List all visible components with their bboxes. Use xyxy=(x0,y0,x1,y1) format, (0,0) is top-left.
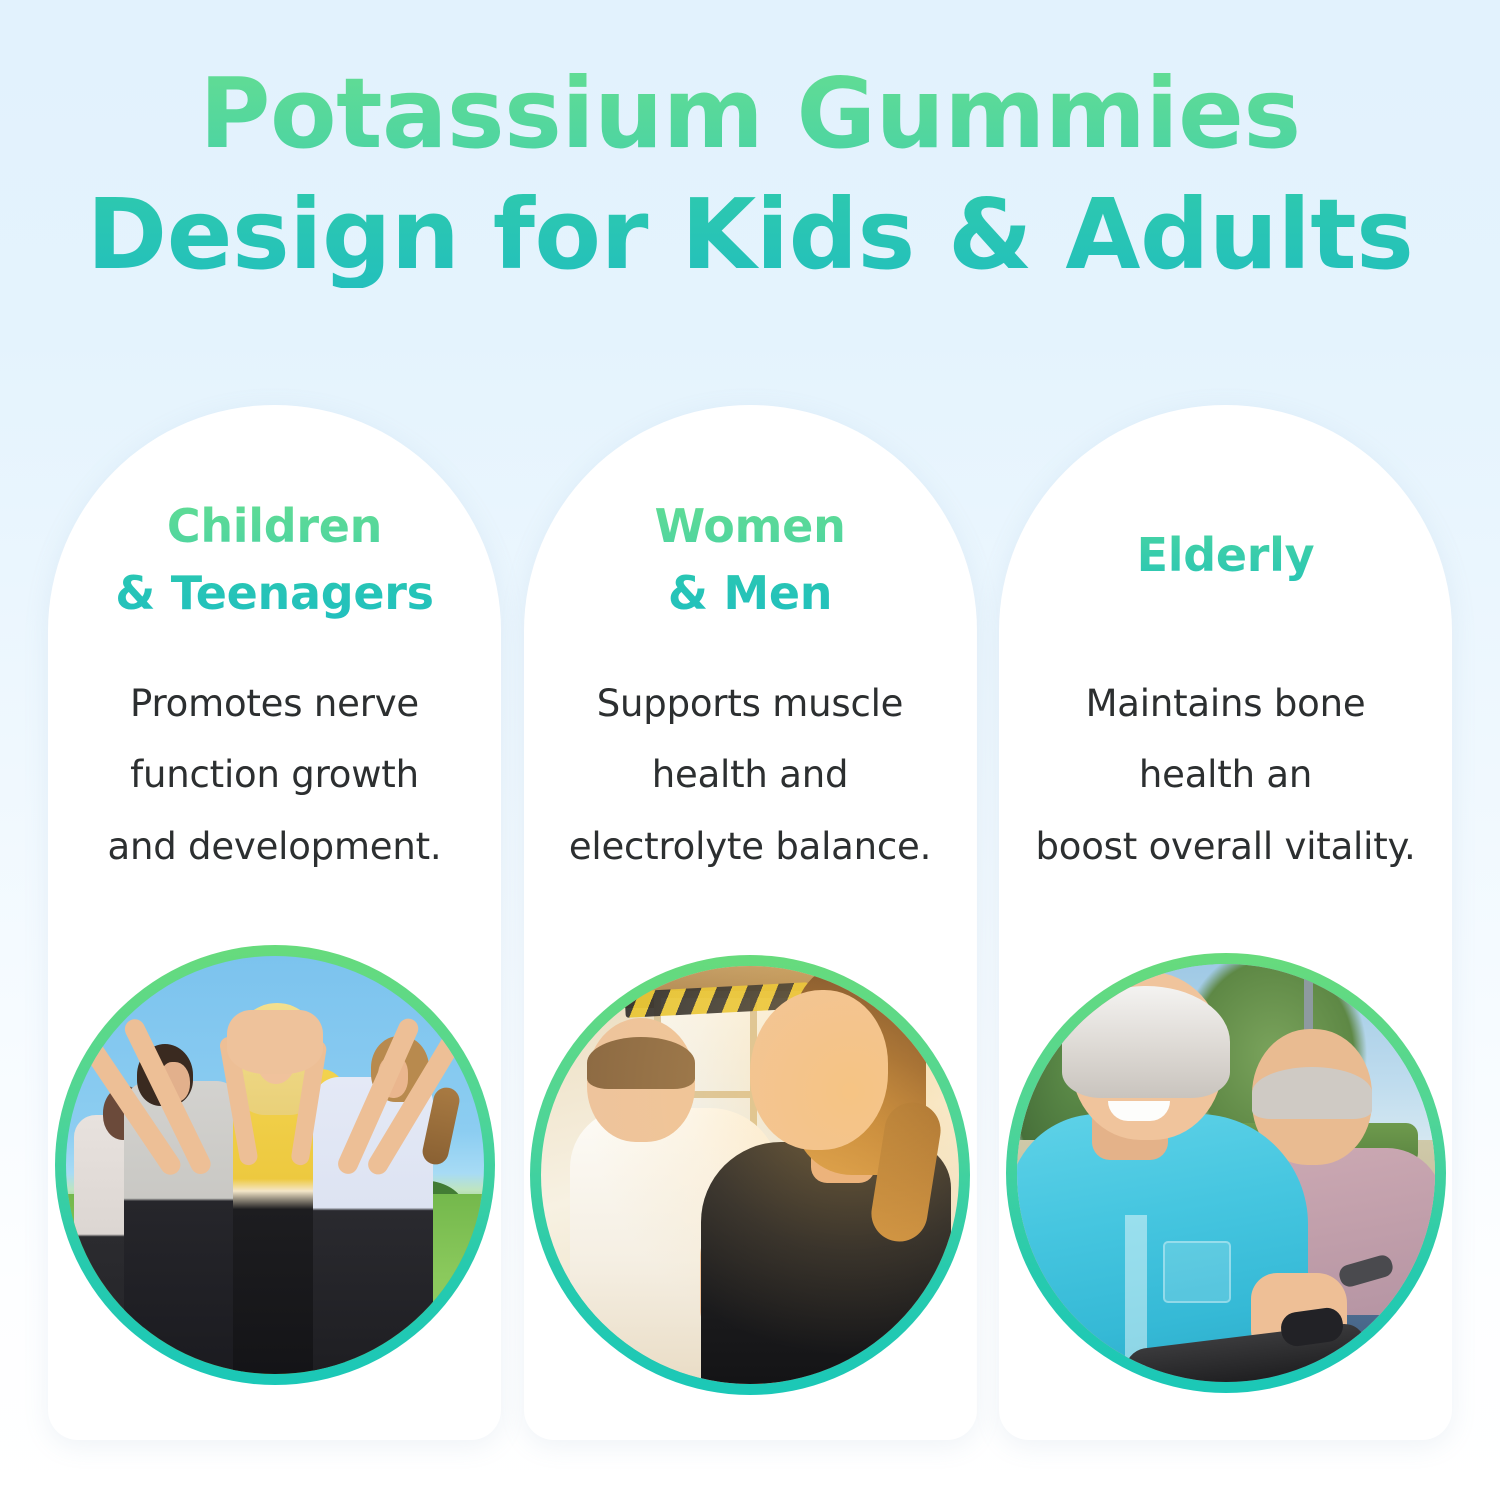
card-heading-line-1: Elderly xyxy=(999,522,1452,589)
senior-man-hair xyxy=(1252,1067,1372,1119)
joined-hands xyxy=(227,1010,323,1074)
card-body-text: Supports muscle health and electrolyte b… xyxy=(524,668,977,882)
audience-card-elderly: Elderly Maintains bone health an boost o… xyxy=(999,405,1452,1440)
photo-senior-couple-cycling xyxy=(1017,964,1435,1382)
infographic-poster: Potassium Gummies Design for Kids & Adul… xyxy=(0,0,1500,1500)
card-heading-line-1: Women xyxy=(524,493,977,560)
card-body-text: Maintains bone health an boost overall v… xyxy=(999,668,1452,882)
photo-ring xyxy=(55,945,495,1385)
title-line-1: Potassium Gummies xyxy=(0,62,1500,167)
card-heading: Children & Teenagers xyxy=(48,405,501,627)
card-heading: Women & Men xyxy=(524,405,977,627)
audience-card-children: Children & Teenagers Promotes nerve func… xyxy=(48,405,501,1440)
card-heading-line-2: & Teenagers xyxy=(48,560,501,627)
card-body-text: Promotes nerve function growth and devel… xyxy=(48,668,501,882)
title-line-2: Design for Kids & Adults xyxy=(0,183,1500,288)
photo-ring xyxy=(1006,953,1446,1393)
audience-card-women-men: Women & Men Supports muscle health and e… xyxy=(524,405,977,1440)
poster-title: Potassium Gummies Design for Kids & Adul… xyxy=(0,62,1500,288)
photo-gym-workout xyxy=(541,966,959,1384)
shirt-pocket xyxy=(1163,1241,1231,1303)
audience-cards: Children & Teenagers Promotes nerve func… xyxy=(48,405,1452,1440)
card-heading-line-1: Children xyxy=(48,493,501,560)
sunlight-glow xyxy=(541,966,959,1384)
senior-woman-smile xyxy=(1108,1101,1170,1121)
photo-ring xyxy=(530,955,970,1395)
card-heading-line-2: & Men xyxy=(524,560,977,627)
card-heading: Elderly xyxy=(999,405,1452,589)
photo-teens-high-five xyxy=(66,956,484,1374)
senior-woman-hair xyxy=(1062,986,1230,1098)
